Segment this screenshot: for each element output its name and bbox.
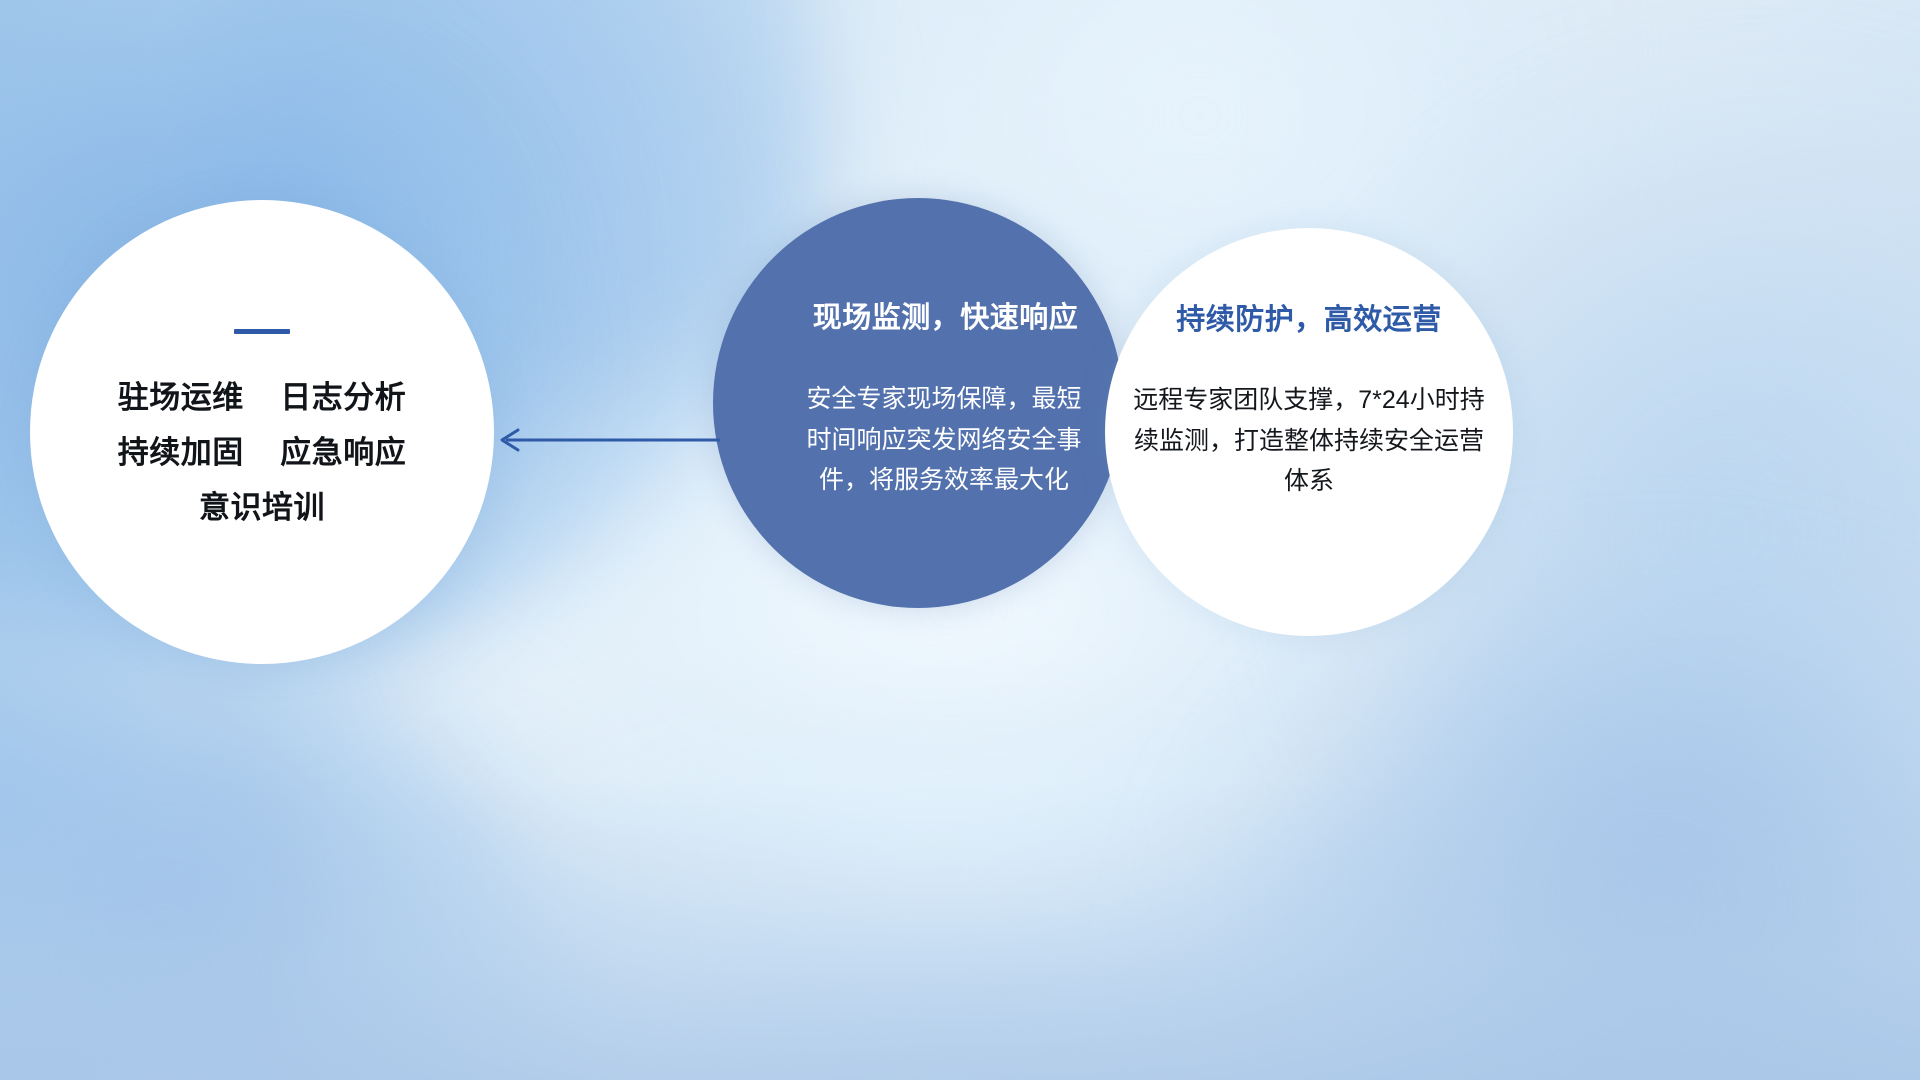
middle-onsite-circle: 现场监测，快速响应 安全专家现场保障，最短时间响应突发网络安全事件，将服务效率最… bbox=[713, 198, 1123, 608]
middle-circle-body: 安全专家现场保障，最短时间响应突发网络安全事件，将服务效率最大化 bbox=[799, 379, 1089, 501]
background-blob-lower-right bbox=[1220, 620, 1920, 1080]
background-blob-bottom-streak bbox=[520, 720, 1380, 1020]
right-circle-title: 持续防护，高效运营 bbox=[1176, 296, 1442, 338]
slide-canvas: 驻场运维 日志分析 持续加固 应急响应 意识培训 现场监测，快速响应 安全专家现… bbox=[0, 0, 1920, 1080]
middle-circle-title: 现场监测，快速响应 bbox=[813, 294, 1079, 336]
arrow-left-icon bbox=[492, 424, 722, 456]
right-circle-body: 远程专家团队支撑，7*24小时持续监测，打造整体持续安全运营体系 bbox=[1133, 380, 1485, 502]
background-blob-lower-left bbox=[0, 640, 600, 1080]
left-capability-line: 持续加固 应急响应 bbox=[118, 425, 406, 480]
right-operations-circle: 持续防护，高效运营 远程专家团队支撑，7*24小时持续监测，打造整体持续安全运营… bbox=[1105, 228, 1513, 636]
left-capability-list: 驻场运维 日志分析 持续加固 应急响应 意识培训 bbox=[118, 370, 406, 536]
middle-circle-content: 现场监测，快速响应 安全专家现场保障，最短时间响应突发网络安全事件，将服务效率最… bbox=[713, 198, 1123, 608]
background-vignette-bottom bbox=[0, 780, 1920, 1080]
left-capability-line: 驻场运维 日志分析 bbox=[118, 370, 406, 425]
left-capability-circle: 驻场运维 日志分析 持续加固 应急响应 意识培训 bbox=[30, 200, 494, 664]
left-capability-line: 意识培训 bbox=[118, 480, 406, 535]
divider-dash-icon bbox=[234, 329, 290, 334]
